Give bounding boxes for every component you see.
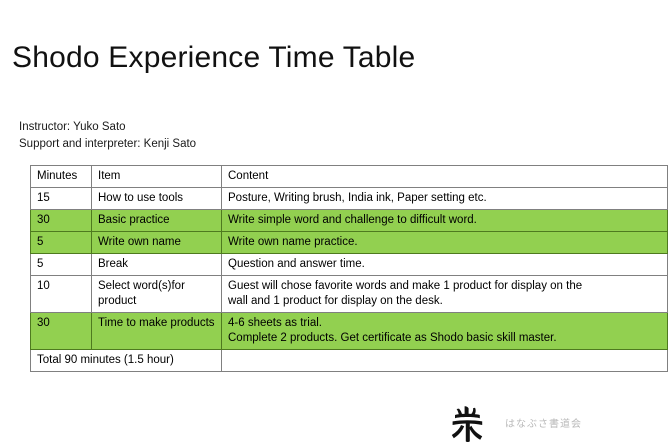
row-minutes: 30 [31,313,92,350]
row-minutes: 30 [31,210,92,232]
row-item: Basic practice [92,210,222,232]
row-content-line-2: wall and 1 product for display on the de… [228,294,662,309]
timetable-container: Minutes Item Content 15 How to use tools… [30,165,667,372]
slide-canvas: Shodo Experience Time Table Instructor: … [0,0,670,446]
column-header-content: Content [222,166,668,188]
row-content-line-1: Question and answer time. [228,257,662,272]
row-content-line-2: Complete 2 products. Get certificate as … [228,331,662,346]
row-minutes: 5 [31,254,92,276]
total-label: Total 90 minutes (1.5 hour) [31,350,222,372]
row-content-line-1: 4-6 sheets as trial. [228,316,662,331]
table-row: 5 Write own name Write own name practice… [31,232,668,254]
row-content: Posture, Writing brush, India ink, Paper… [222,188,668,210]
table-row: 10 Select word(s)for product Guest will … [31,276,668,313]
row-content: Write simple word and challenge to diffi… [222,210,668,232]
row-minutes: 15 [31,188,92,210]
brand-name-japanese: はなぶさ書道会 [505,415,582,430]
row-content: 4-6 sheets as trial. Complete 2 products… [222,313,668,350]
table-row: 30 Basic practice Write simple word and … [31,210,668,232]
row-item: Select word(s)for product [92,276,222,313]
row-content-line-1: Guest will chose favorite words and make… [228,279,662,294]
row-item: Time to make products [92,313,222,350]
column-header-minutes: Minutes [31,166,92,188]
row-item: How to use tools [92,188,222,210]
column-header-item: Item [92,166,222,188]
table-total-row: Total 90 minutes (1.5 hour) [31,350,668,372]
row-content: Guest will chose favorite words and make… [222,276,668,313]
table-row: 30 Time to make products 4-6 sheets as t… [31,313,668,350]
row-content-line-1: Write simple word and challenge to diffi… [228,213,662,228]
brand-logo: はなぶさ書道会 [447,403,627,445]
instructor-line: Instructor: Yuko Sato [19,119,196,136]
row-minutes: 5 [31,232,92,254]
row-content: Write own name practice. [222,232,668,254]
table-header-row: Minutes Item Content [31,166,668,188]
row-content-line-1: Write own name practice. [228,235,662,250]
table-row: 5 Break Question and answer time. [31,254,668,276]
row-minutes: 10 [31,276,92,313]
support-interpreter-line: Support and interpreter: Kenji Sato [19,136,196,153]
row-content-line-1: Posture, Writing brush, India ink, Paper… [228,191,662,206]
kanji-ei-icon [447,403,487,443]
schedule-table: Minutes Item Content 15 How to use tools… [30,165,668,372]
row-item: Write own name [92,232,222,254]
row-item: Break [92,254,222,276]
page-title: Shodo Experience Time Table [12,41,415,75]
credits-block: Instructor: Yuko Sato Support and interp… [19,119,196,153]
total-content [222,350,668,372]
row-content: Question and answer time. [222,254,668,276]
table-row: 15 How to use tools Posture, Writing bru… [31,188,668,210]
